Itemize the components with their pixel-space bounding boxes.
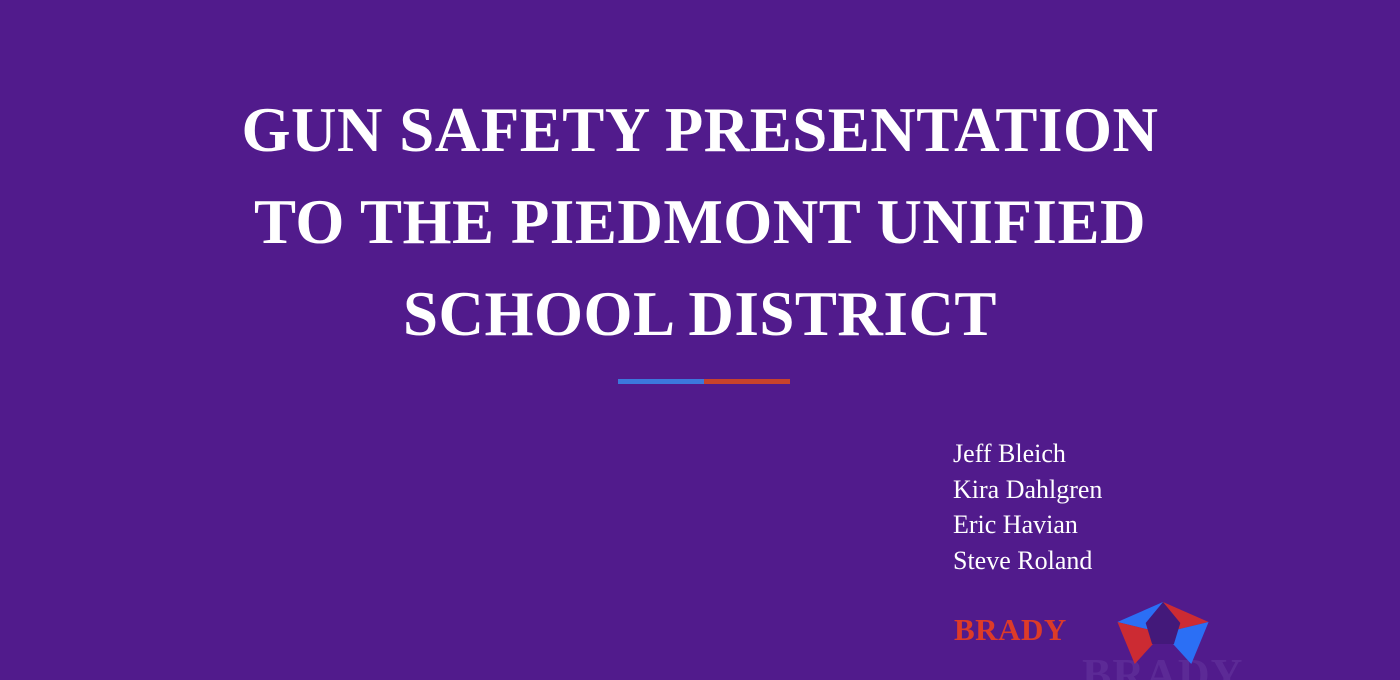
brady-star-icon (1117, 602, 1209, 664)
divider-segment-blue (618, 379, 704, 384)
title-divider-rule (618, 379, 790, 384)
presenter-name: Jeff Bleich (953, 436, 1102, 472)
presenter-name: Eric Havian (953, 507, 1102, 543)
page-title: GUN SAFETY PRESENTATION TO THE PIEDMONT … (0, 84, 1400, 360)
presenter-name: Kira Dahlgren (953, 472, 1102, 508)
divider-segment-red (704, 379, 790, 384)
title-slide: GUN SAFETY PRESENTATION TO THE PIEDMONT … (0, 0, 1400, 680)
title-line-3: SCHOOL DISTRICT (0, 268, 1400, 360)
title-line-2: TO THE PIEDMONT UNIFIED (0, 176, 1400, 268)
presenter-list: Jeff Bleich Kira Dahlgren Eric Havian St… (953, 436, 1102, 578)
presenter-name: Steve Roland (953, 543, 1102, 579)
brady-logo: BRADY BRADY (950, 605, 1250, 680)
title-line-1: GUN SAFETY PRESENTATION (0, 84, 1400, 176)
brady-wordmark-text: BRADY (954, 614, 1067, 645)
